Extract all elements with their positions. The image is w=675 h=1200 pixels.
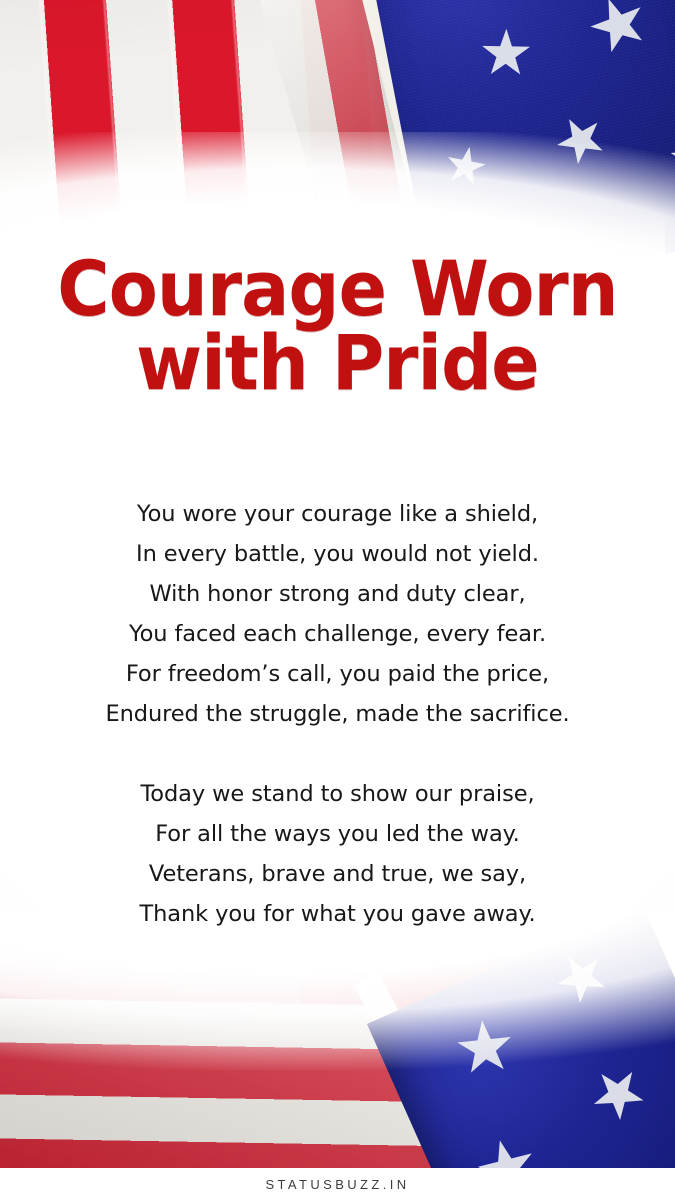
poem-line: Veterans, brave and true, we say, (0, 854, 675, 894)
title-line-2: with Pride (20, 326, 655, 400)
poem-line: Endured the struggle, made the sacrifice… (0, 694, 675, 734)
flag-top-inner (0, 0, 675, 262)
poem-line: With honor strong and duty clear, (0, 574, 675, 614)
poem-line: Thank you for what you gave away. (0, 894, 675, 934)
poster-canvas: Courage Worn with Pride You wore your co… (0, 0, 675, 1200)
poem-line: Today we stand to show our praise, (0, 774, 675, 814)
poem-line: You faced each challenge, every fear. (0, 614, 675, 654)
footer-bar: STATUSBUZZ.IN (0, 1168, 675, 1200)
star-icon (582, 0, 654, 61)
star-icon (480, 28, 531, 79)
poem-line: You wore your courage like a shield, (0, 494, 675, 534)
title-line-1: Courage Worn (20, 252, 655, 326)
site-watermark: STATUSBUZZ.IN (265, 1177, 409, 1192)
poem-body: You wore your courage like a shield, In … (0, 494, 675, 934)
flag-image-top (0, 0, 675, 262)
star-icon (472, 1133, 542, 1170)
poem-line: In every battle, you would not yield. (0, 534, 675, 574)
poem-line: For all the ways you led the way. (0, 814, 675, 854)
poem-line: For freedom’s call, you paid the price, (0, 654, 675, 694)
poem-stanza-1: You wore your courage like a shield, In … (0, 494, 675, 734)
flag-image-bottom (0, 910, 675, 1170)
page-title: Courage Worn with Pride (20, 252, 655, 399)
poem-stanza-2: Today we stand to show our praise, For a… (0, 774, 675, 934)
